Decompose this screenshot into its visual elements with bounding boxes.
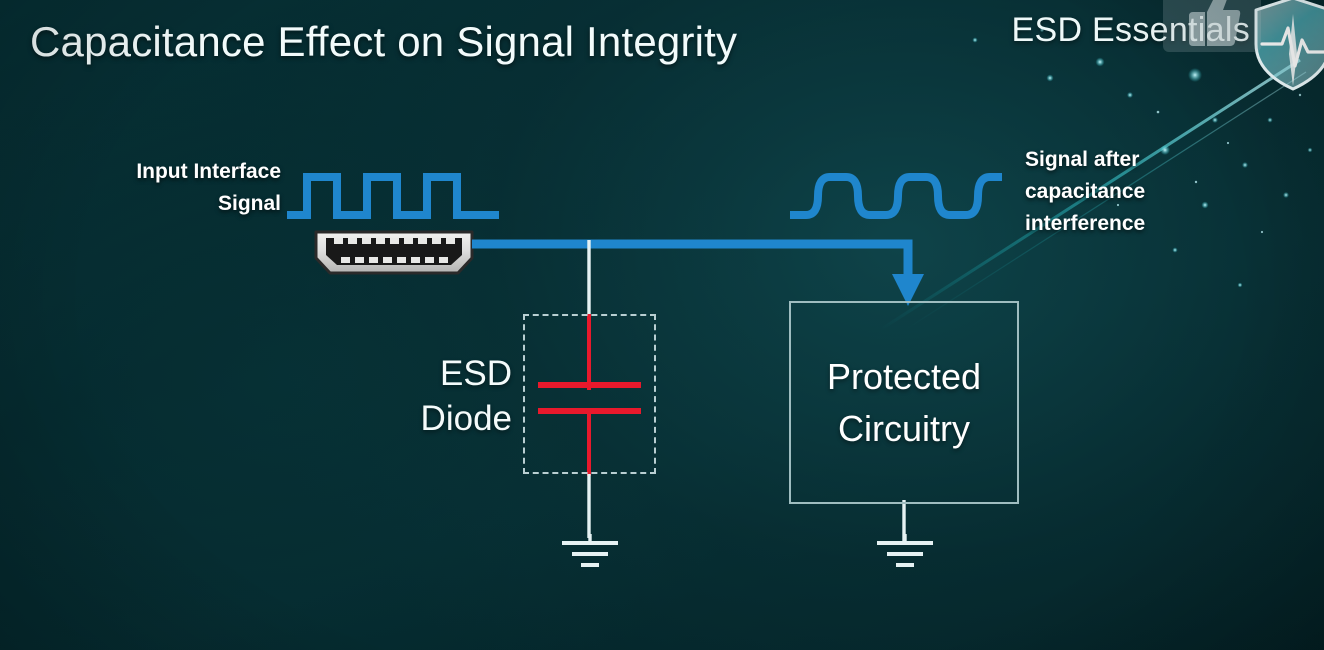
protected-circuitry-line1: Protected: [827, 351, 981, 402]
output-signal-label: Signal after capacitance interference: [1025, 144, 1275, 240]
page-title: Capacitance Effect on Signal Integrity: [30, 18, 737, 66]
output-signal-label-line1: Signal after: [1025, 144, 1275, 176]
output-signal-label-line3: interference: [1025, 208, 1275, 240]
capacitor-symbol-icon: [523, 314, 656, 474]
signal-trace-arrow: [300, 222, 940, 312]
thumbs-up-overlay[interactable]: [1163, 0, 1261, 52]
slide-canvas: Capacitance Effect on Signal Integrity E…: [0, 0, 1324, 650]
ground-symbol-icon-left: [552, 534, 628, 574]
ground-symbol-icon-right: [867, 534, 943, 574]
output-signal-label-line2: capacitance: [1025, 176, 1275, 208]
input-signal-label-line1: Input Interface: [38, 156, 281, 188]
esd-diode-label: ESD Diode: [398, 352, 512, 442]
esd-diode-label-line1: ESD: [398, 352, 512, 397]
esd-diode-label-line2: Diode: [398, 397, 512, 442]
shield-pulse-icon: [1250, 0, 1324, 94]
square-wave-icon: [285, 168, 510, 224]
protected-circuitry-line2: Circuitry: [838, 403, 970, 454]
input-signal-label: Input Interface Signal: [38, 156, 281, 220]
rounded-square-wave-icon: [788, 168, 1013, 224]
input-signal-label-line2: Signal: [38, 188, 281, 220]
protected-circuitry-box: Protected Circuitry: [789, 301, 1019, 504]
thumbs-up-icon: [1185, 0, 1241, 48]
